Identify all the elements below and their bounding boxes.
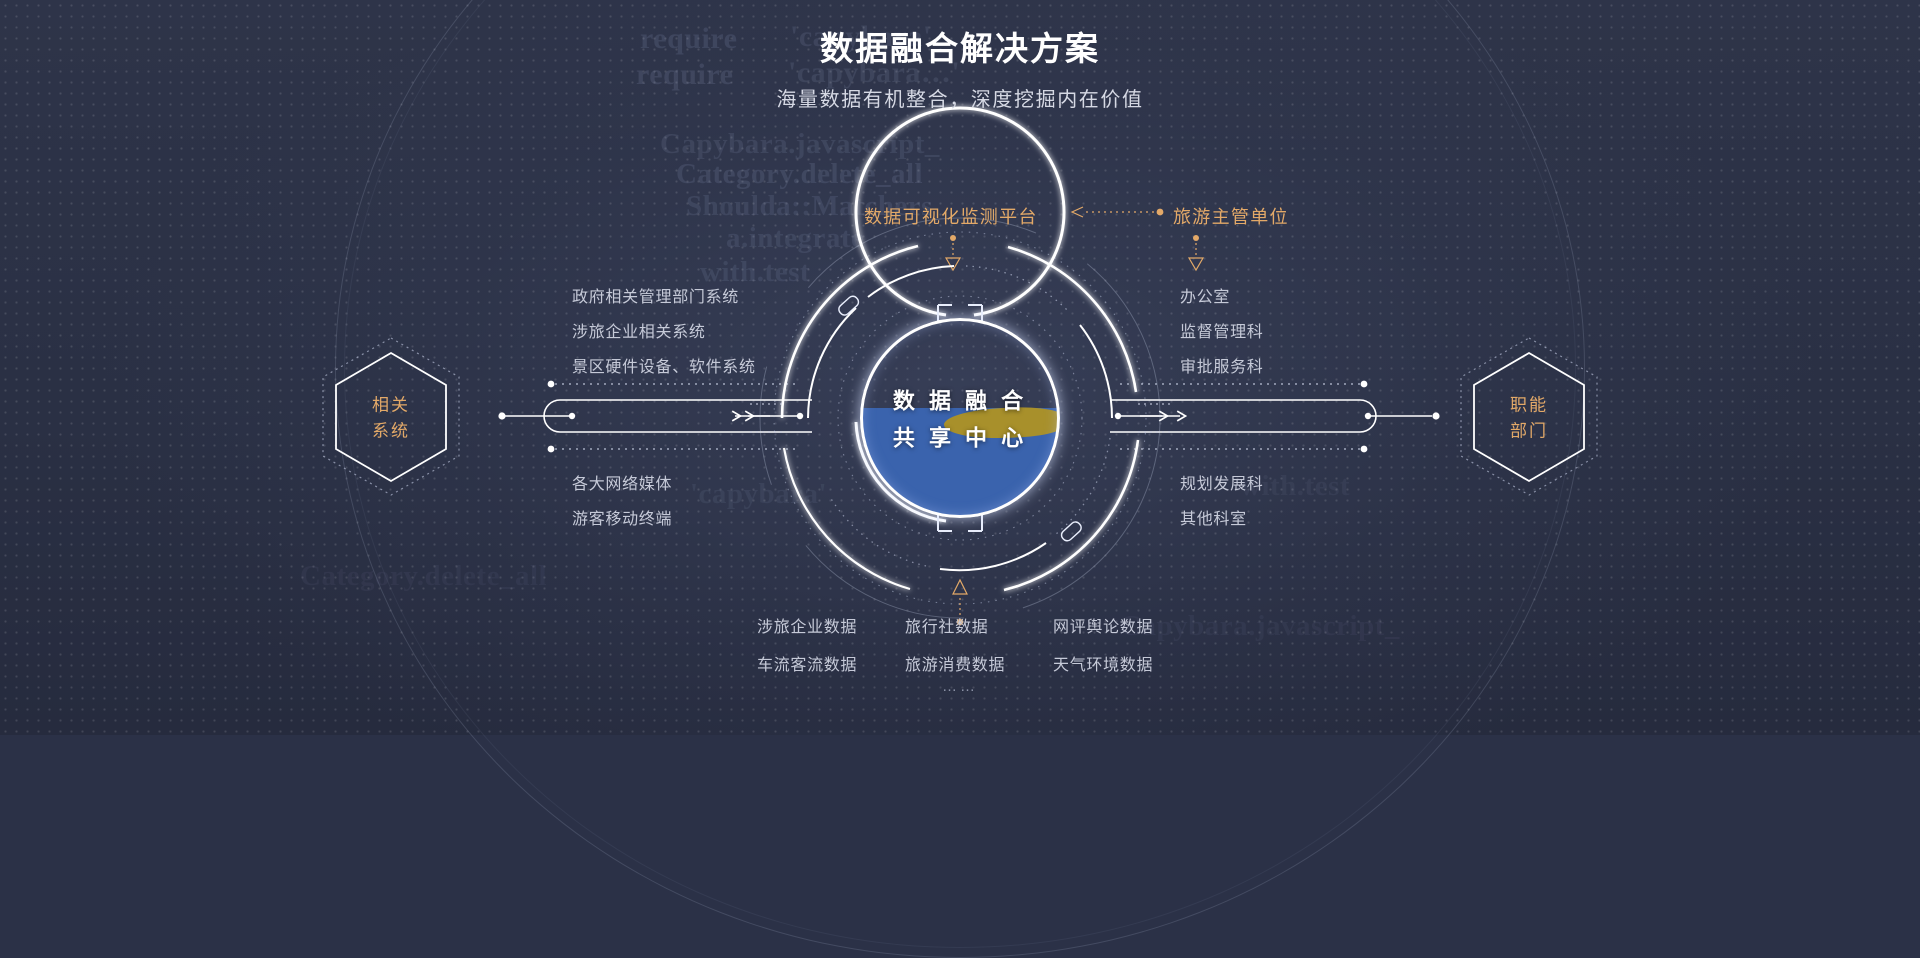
hexagon-right-line1: 职能 — [1510, 396, 1548, 415]
right-label-4: 其他科室 — [1180, 505, 1247, 529]
hub-label-line1: 数 据 融 合 — [893, 384, 1027, 416]
left-label-4: 游客移动终端 — [572, 505, 672, 529]
left-label-1: 涉旅企业相关系统 — [572, 318, 706, 342]
right-label-1: 监督管理科 — [1180, 318, 1264, 342]
right-label-0: 办公室 — [1180, 283, 1230, 307]
hexagon-right-line2: 部门 — [1510, 421, 1548, 440]
header: 数据融合解决方案 海量数据有机整合，深度挖掘内在价值 — [0, 28, 1920, 112]
left-label-0: 政府相关管理部门系统 — [572, 283, 739, 307]
hexagon-right-label: 职能 部门 — [1510, 393, 1548, 444]
bottom-label-r2c2: 旅游消费数据 — [905, 651, 1005, 675]
bottom-label-r2c3: 天气环境数据 — [1053, 651, 1153, 675]
page-subtitle: 海量数据有机整合，深度挖掘内在价值 — [0, 83, 1920, 112]
left-label-3: 各大网络媒体 — [572, 470, 672, 494]
hexagon-right[interactable]: 职能 部门 — [1470, 353, 1588, 483]
hub-label-line2: 共 享 中 心 — [893, 421, 1027, 453]
page-title: 数据融合解决方案 — [0, 28, 1920, 69]
bottom-label-r1c2: 旅行社数据 — [905, 613, 989, 637]
hexagon-left[interactable]: 相关 系统 — [332, 353, 450, 483]
hexagon-left-line2: 系统 — [372, 421, 410, 440]
hexagon-left-label: 相关 系统 — [372, 393, 410, 444]
left-label-2: 景区硬件设备、软件系统 — [572, 353, 756, 377]
bottom-ellipsis: …… — [942, 678, 978, 695]
hexagon-left-line1: 相关 — [372, 396, 410, 415]
right-label-3: 规划发展科 — [1180, 470, 1264, 494]
right-label-2: 审批服务科 — [1180, 353, 1264, 377]
bottom-label-r1c3: 网评舆论数据 — [1053, 613, 1153, 637]
top-label-authority[interactable]: 旅游主管单位 — [1173, 203, 1289, 229]
bottom-label-r2c1: 车流客流数据 — [757, 651, 857, 675]
bottom-label-r1c1: 涉旅企业数据 — [757, 613, 857, 637]
top-label-platform[interactable]: 数据可视化监测平台 — [864, 203, 1038, 229]
hub-label: 数 据 融 合 共 享 中 心 — [893, 384, 1027, 453]
data-fusion-hub[interactable]: 数 据 融 合 共 享 中 心 — [740, 198, 1180, 638]
